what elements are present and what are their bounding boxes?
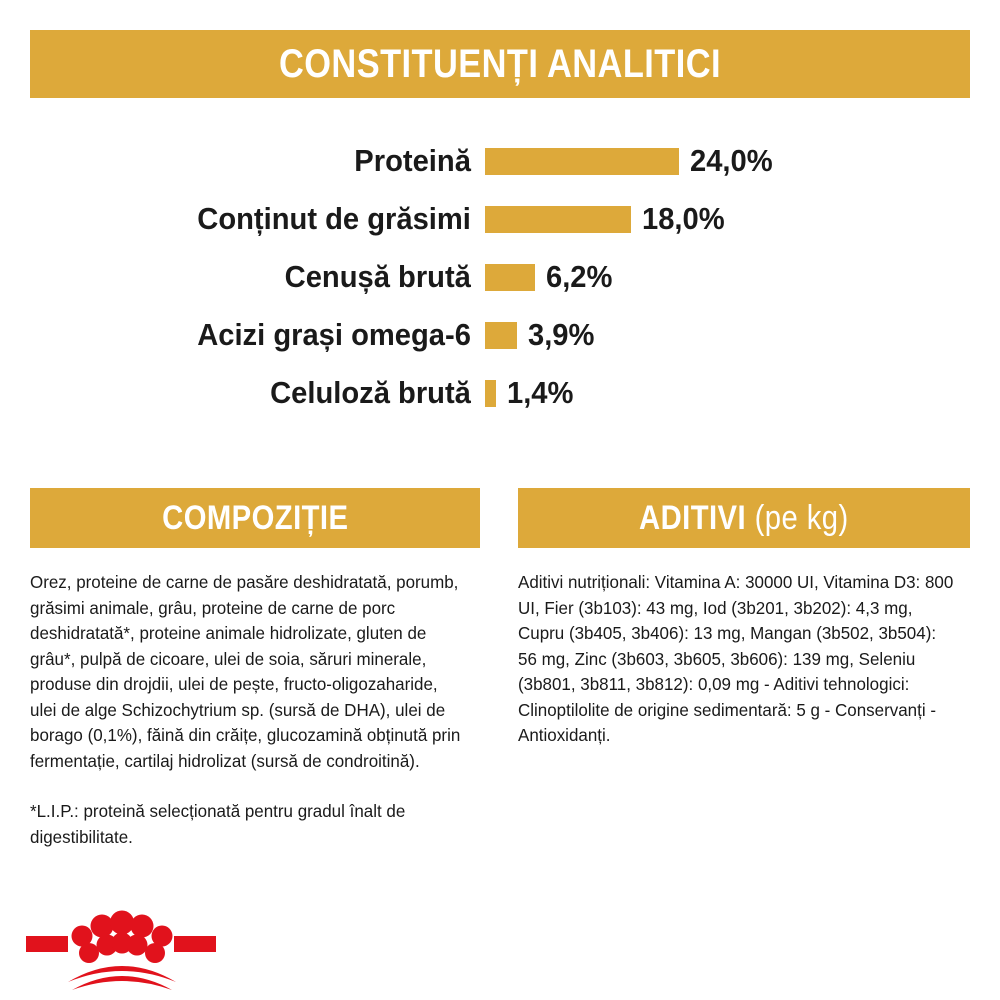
bar-value: 24,0%	[690, 143, 773, 179]
bar-value: 3,9%	[528, 317, 594, 353]
additives-heading: ADITIVI (pe kg)	[639, 499, 849, 538]
bar-value: 1,4%	[507, 375, 573, 411]
composition-text: Orez, proteine de carne de pasăre deshid…	[30, 570, 467, 774]
bar-fill	[485, 206, 631, 233]
composition-heading: COMPOZIȚIE	[162, 499, 348, 538]
bar-fill	[485, 380, 496, 407]
bar-fill	[485, 264, 535, 291]
bar-value: 6,2%	[546, 259, 612, 295]
bar-track: 3,9%	[485, 317, 1000, 353]
bar-track: 24,0%	[485, 143, 1000, 179]
bar-row: Acizi grași omega-63,9%	[0, 306, 1000, 364]
bar-label: Cenușă brută	[29, 259, 485, 295]
additives-heading-light: (pe kg)	[755, 499, 849, 537]
composition-footnote: *L.I.P.: proteină selecționată pentru gr…	[30, 799, 467, 850]
composition-column: Orez, proteine de carne de pasăre deshid…	[30, 570, 480, 850]
bar-label: Celuloză brută	[29, 375, 485, 411]
bar-fill	[485, 322, 517, 349]
bar-row: Proteină24,0%	[0, 132, 1000, 190]
bar-label: Conținut de grăsimi	[29, 201, 485, 237]
analytical-constituents-header: CONSTITUENȚI ANALITICI	[30, 30, 970, 98]
column-gutter	[480, 570, 518, 850]
bar-row: Conținut de grăsimi18,0%	[0, 190, 1000, 248]
bar-fill	[485, 148, 679, 175]
section-headers-row: COMPOZIȚIE ADITIVI (pe kg)	[30, 488, 970, 548]
additives-header: ADITIVI (pe kg)	[518, 488, 970, 548]
royal-canin-crown-icon	[26, 898, 216, 993]
bar-row: Celuloză brută1,4%	[0, 364, 1000, 422]
additives-text: Aditivi nutriționali: Vitamina A: 30000 …	[518, 570, 956, 749]
bar-track: 1,4%	[485, 375, 1000, 411]
content-columns: Orez, proteine de carne de pasăre deshid…	[30, 570, 970, 850]
bar-track: 18,0%	[485, 201, 1000, 237]
header-gutter	[480, 488, 518, 548]
bar-track: 6,2%	[485, 259, 1000, 295]
additives-column: Aditivi nutriționali: Vitamina A: 30000 …	[518, 570, 970, 850]
bar-label: Proteină	[29, 143, 485, 179]
bar-value: 18,0%	[642, 201, 725, 237]
bar-label: Acizi grași omega-6	[29, 317, 485, 353]
page-title: CONSTITUENȚI ANALITICI	[279, 42, 721, 87]
bar-row: Cenușă brută6,2%	[0, 248, 1000, 306]
analytical-constituents-chart: Proteină24,0%Conținut de grăsimi18,0%Cen…	[0, 132, 1000, 422]
composition-header: COMPOZIȚIE	[30, 488, 480, 548]
additives-heading-bold: ADITIVI	[639, 499, 746, 537]
